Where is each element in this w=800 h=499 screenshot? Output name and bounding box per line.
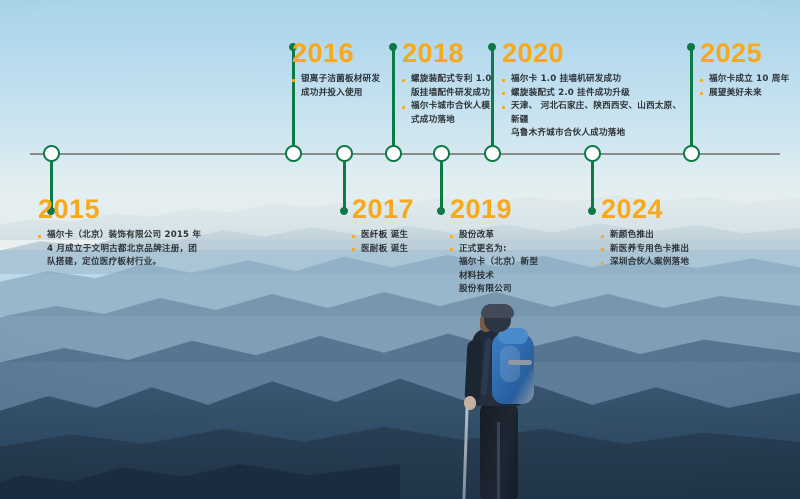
timeline-item: 福尔卡成立 10 周年: [700, 73, 800, 87]
timeline-item: 福尔卡 1.0 挂墙机研发成功: [502, 73, 687, 87]
timeline-year-label-2024: 2024: [601, 196, 721, 223]
timeline-year-label-2018: 2018: [402, 40, 494, 67]
timeline-item: 新医养专用色卡推出: [601, 243, 721, 257]
timeline-item-list-2025: 福尔卡成立 10 周年展望美好未来: [700, 73, 800, 100]
timeline-item: 医纤板 诞生: [352, 229, 442, 243]
timeline-item-list-2024: 新颜色推出新医养专用色卡推出深圳合伙人案例落地: [601, 229, 721, 270]
timeline-entry-2017[interactable]: 2017医纤板 诞生医耐板 诞生: [352, 196, 442, 256]
timeline-item: 医耐板 诞生: [352, 243, 442, 257]
timeline-item-list-2020: 福尔卡 1.0 挂墙机研发成功螺旋装配式 2.0 挂件成功升级天津、 河北石家庄…: [502, 73, 687, 141]
timeline-item: 深圳合伙人案例落地: [601, 256, 721, 270]
timeline-item: 螺旋装配式 2.0 挂件成功升级: [502, 87, 687, 101]
timeline-dot-2019[interactable]: [433, 145, 450, 162]
timeline-infographic: 2015福尔卡（北京）装饰有限公司 2015 年 4 月成立于文明古都北京品牌注…: [0, 0, 800, 499]
timeline-dot-2016[interactable]: [285, 145, 302, 162]
timeline-stem-2024: [591, 154, 594, 211]
timeline-dot-2020[interactable]: [484, 145, 501, 162]
timeline-entry-2020[interactable]: 2020福尔卡 1.0 挂墙机研发成功螺旋装配式 2.0 挂件成功升级天津、 河…: [502, 40, 687, 141]
timeline-item: 福尔卡城市合伙人模 式成功落地: [402, 100, 494, 127]
timeline-entry-2018[interactable]: 2018螺旋装配式专利 1.0 版挂墙配件研发成功福尔卡城市合伙人模 式成功落地: [402, 40, 494, 127]
timeline-entry-2024[interactable]: 2024新颜色推出新医养专用色卡推出深圳合伙人案例落地: [601, 196, 721, 270]
timeline-item: 螺旋装配式专利 1.0 版挂墙配件研发成功: [402, 73, 494, 100]
timeline-year-label-2016: 2016: [292, 40, 387, 67]
timeline-item: 福尔卡（北京）装饰有限公司 2015 年 4 月成立于文明古都北京品牌注册，团 …: [38, 229, 218, 270]
timeline-year-label-2015: 2015: [38, 196, 218, 223]
timeline-dot-2015[interactable]: [43, 145, 60, 162]
timeline-item-list-2019: 股份改革正式更名为: 福尔卡（北京）新型材料技术 股份有限公司: [450, 229, 545, 297]
timeline-dot-2017[interactable]: [336, 145, 353, 162]
timeline-entry-2015[interactable]: 2015福尔卡（北京）装饰有限公司 2015 年 4 月成立于文明古都北京品牌注…: [38, 196, 218, 270]
timeline-stem-2017: [343, 154, 346, 211]
timeline-year-label-2019: 2019: [450, 196, 545, 223]
timeline-item-list-2018: 螺旋装配式专利 1.0 版挂墙配件研发成功福尔卡城市合伙人模 式成功落地: [402, 73, 494, 127]
timeline-dot-2025[interactable]: [683, 145, 700, 162]
timeline-item-list-2016: 银离子洁菌板材研发 成功并投入使用: [292, 73, 387, 100]
timeline-dot-2018[interactable]: [385, 145, 402, 162]
timeline-item-list-2015: 福尔卡（北京）装饰有限公司 2015 年 4 月成立于文明古都北京品牌注册，团 …: [38, 229, 218, 270]
timeline-axis: [30, 153, 780, 155]
timeline-entry-2019[interactable]: 2019股份改革正式更名为: 福尔卡（北京）新型材料技术 股份有限公司: [450, 196, 545, 297]
timeline-item-list-2017: 医纤板 诞生医耐板 诞生: [352, 229, 442, 256]
timeline-entry-2016[interactable]: 2016银离子洁菌板材研发 成功并投入使用: [292, 40, 387, 100]
timeline-item: 银离子洁菌板材研发 成功并投入使用: [292, 73, 387, 100]
timeline-item: 新颜色推出: [601, 229, 721, 243]
timeline-item: 股份改革: [450, 229, 545, 243]
timeline-item: 天津、 河北石家庄、陕西西安、山西太原、新疆 乌鲁木齐城市合伙人成功落地: [502, 100, 687, 141]
timeline-item: 展望美好未来: [700, 87, 800, 101]
timeline-year-label-2017: 2017: [352, 196, 442, 223]
timeline-stem-2025: [690, 47, 693, 147]
timeline-stem-2018: [392, 47, 395, 147]
timeline-dot-2024[interactable]: [584, 145, 601, 162]
timeline-item: 正式更名为: 福尔卡（北京）新型材料技术 股份有限公司: [450, 243, 545, 297]
timeline-year-label-2020: 2020: [502, 40, 687, 67]
timeline-year-label-2025: 2025: [700, 40, 800, 67]
timeline-entry-2025[interactable]: 2025福尔卡成立 10 周年展望美好未来: [700, 40, 800, 100]
